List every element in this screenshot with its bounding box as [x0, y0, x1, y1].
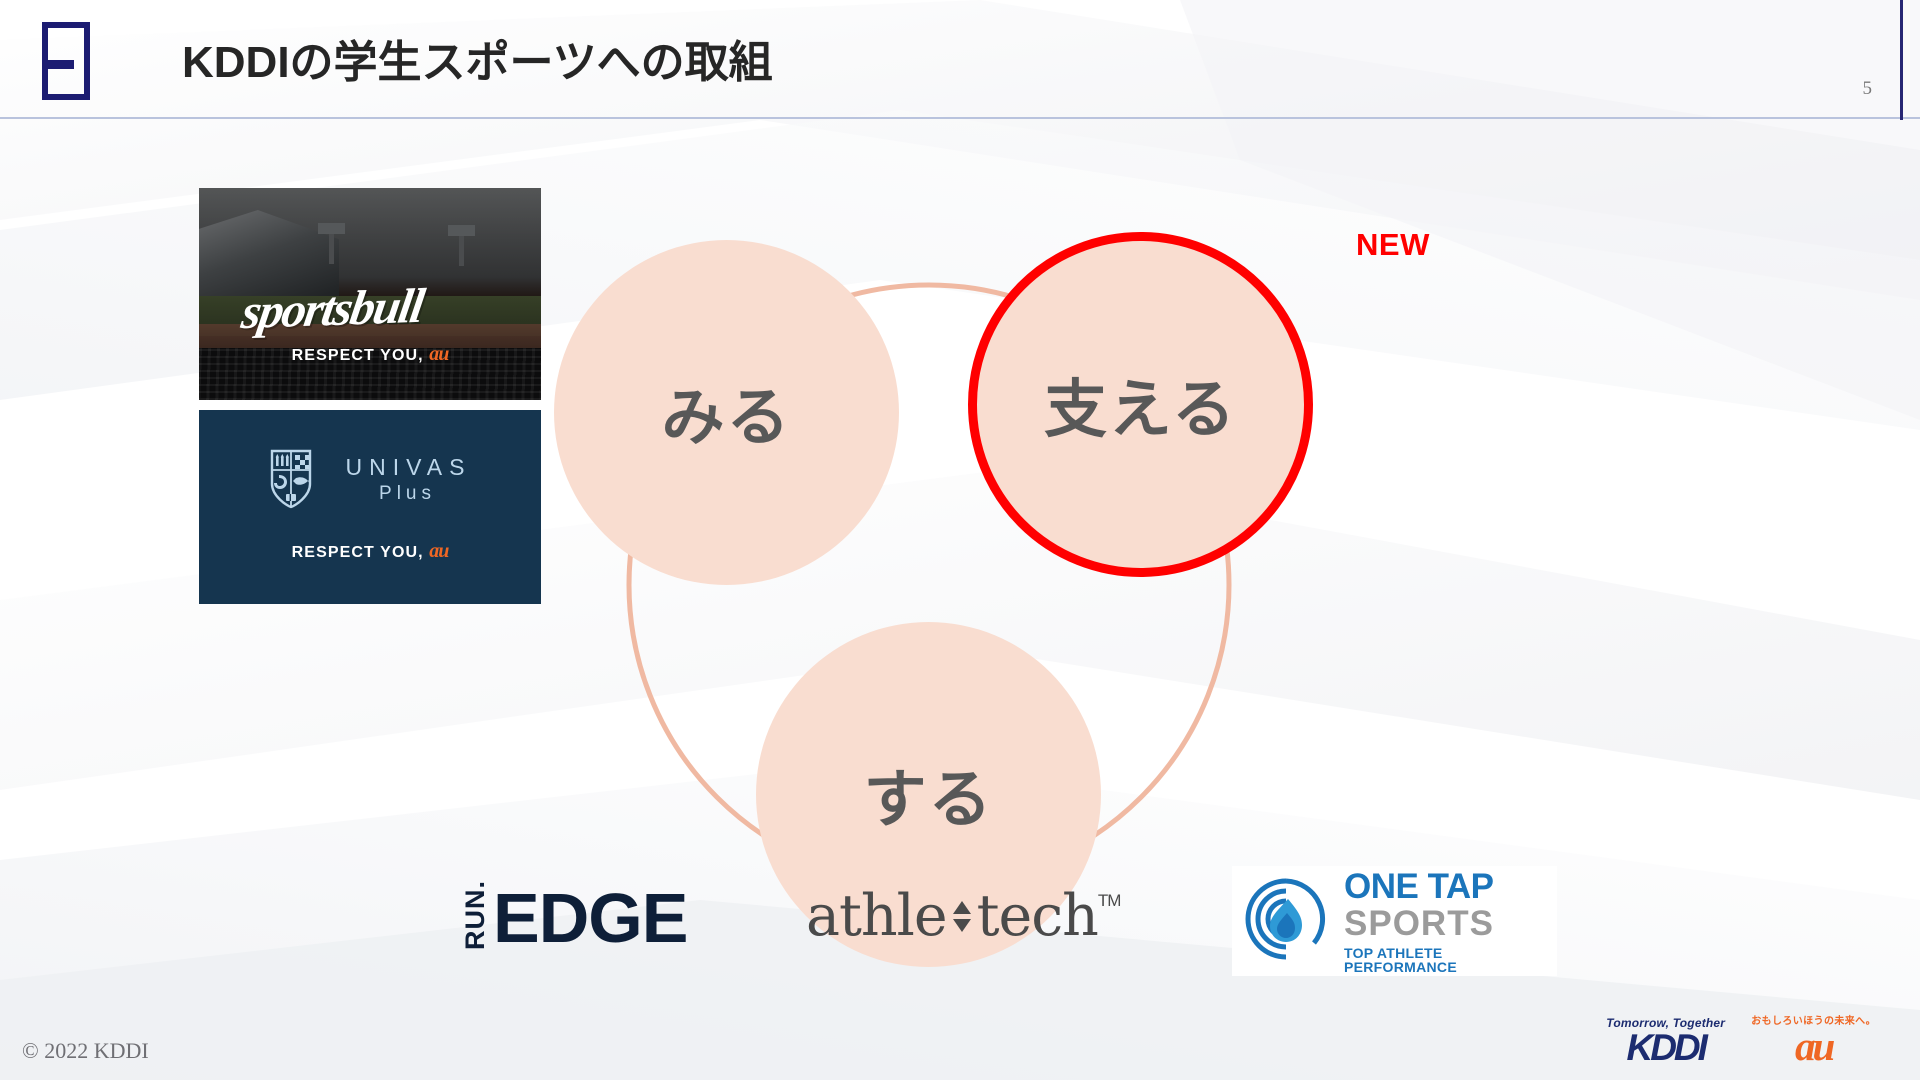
pillar-bubble-sasaeru[interactable]: 支える [968, 232, 1313, 577]
one-tap-line1: ONE TAP [1344, 869, 1557, 904]
one-tap-ripple-flame-icon [1240, 873, 1332, 970]
univas-tagline-text: RESPECT YOU, [292, 544, 424, 561]
au-logo-block: おもしろいほうの未来へ。 au [1751, 1012, 1876, 1064]
one-tap-wordmark: ONE TAP SPORTS TOP ATHLETE PERFORMANCE [1344, 869, 1557, 974]
univas-tagline: RESPECT YOU, au [199, 540, 541, 563]
sportsbull-tagline-text: RESPECT YOU, [292, 347, 424, 364]
sportsbull-wordmark: sportsbull [238, 277, 427, 340]
kddi-logo: KDDI [1626, 1031, 1704, 1064]
kddi-logo-block: Tomorrow, Together KDDI [1606, 1016, 1725, 1064]
partner-logo-athle-tech: athle tech TM [806, 888, 1120, 945]
brand-logo-bar: Tomorrow, Together KDDI おもしろいほうの未来へ。 au [1606, 1012, 1876, 1064]
media-card-stack: sportsbull RESPECT YOU, au [199, 188, 541, 604]
sportsbull-image-card: sportsbull RESPECT YOU, au [199, 188, 541, 400]
univas-name: UNIVAS [339, 454, 472, 481]
run-edge-word: EDGE [493, 888, 687, 950]
floodlight-icon [459, 234, 464, 266]
placeholder-box-icon [42, 22, 90, 100]
univas-logo-row: UNIVAS Plus [199, 448, 541, 510]
au-logo: au [1795, 1029, 1832, 1064]
floodlight-icon [329, 232, 334, 264]
pillar-bubble-miru[interactable]: みる [554, 240, 899, 585]
new-badge: NEW [1356, 227, 1430, 263]
au-brand-mark: au [429, 540, 448, 562]
univas-plus-label: Plus [374, 483, 436, 505]
partner-logo-one-tap-sports: ONE TAP SPORTS TOP ATHLETE PERFORMANCE [1232, 866, 1557, 976]
partner-logo-run-edge: RUN. EDGE [462, 878, 687, 950]
run-edge-prefix: RUN. [462, 878, 489, 950]
athle-tech-part2: tech [977, 888, 1098, 945]
one-tap-line3: TOP ATHLETE PERFORMANCE [1344, 946, 1557, 974]
pillar-label-miru: みる [662, 367, 792, 458]
copyright-text: © 2022 KDDI [22, 1038, 149, 1064]
au-brand-mark: au [429, 343, 448, 365]
header-right-rule [1900, 0, 1903, 120]
athle-tech-separator-icon [953, 888, 971, 945]
pillar-label-sasaeru: 支える [1044, 359, 1237, 450]
athle-tech-part1: athle [806, 888, 947, 945]
slide-root: KDDIの学生スポーツへの取組 5 sportsbull RESPECT YOU… [0, 0, 1920, 1080]
sportsbull-tagline: RESPECT YOU, au [199, 343, 541, 366]
one-tap-line2: SPORTS [1344, 906, 1557, 941]
univas-wordmark: UNIVAS Plus [339, 454, 472, 505]
slide-header: KDDIの学生スポーツへの取組 5 [0, 0, 1920, 118]
header-divider [0, 117, 1920, 119]
univas-plus-card: UNIVAS Plus RESPECT YOU, au [199, 410, 541, 604]
page-title: KDDIの学生スポーツへの取組 [182, 26, 773, 90]
univas-shield-icon [269, 448, 321, 510]
page-number: 5 [1863, 78, 1873, 100]
pillar-label-suru: する [864, 749, 994, 840]
trademark-symbol: TM [1098, 892, 1121, 909]
